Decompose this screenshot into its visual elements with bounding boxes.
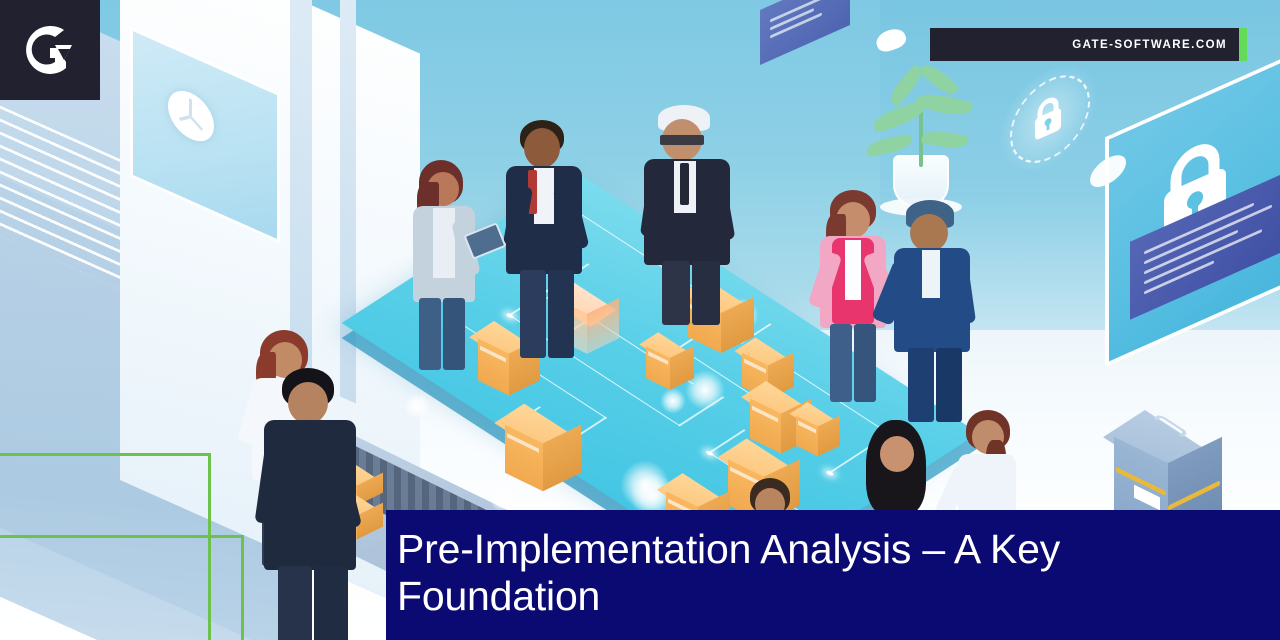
parcel-box — [640, 330, 706, 402]
gate-software-logo[interactable] — [0, 0, 100, 100]
green-frame-inner — [0, 535, 244, 640]
logo-g-icon — [22, 22, 78, 78]
badge-accent-bar — [1239, 28, 1247, 61]
parcel-box — [495, 400, 593, 506]
slide-canvas: GATE-SOFTWARE.COM Pre-Implementation Ana… — [0, 0, 1280, 640]
table-glow — [404, 393, 430, 419]
website-url-badge[interactable]: GATE-SOFTWARE.COM — [930, 28, 1247, 61]
slide-title-bar: Pre-Implementation Analysis – A Key Foun… — [386, 510, 1280, 640]
page-title: Pre-Implementation Analysis – A Key Foun… — [397, 526, 1260, 620]
website-url-text: GATE-SOFTWARE.COM — [1072, 39, 1247, 51]
